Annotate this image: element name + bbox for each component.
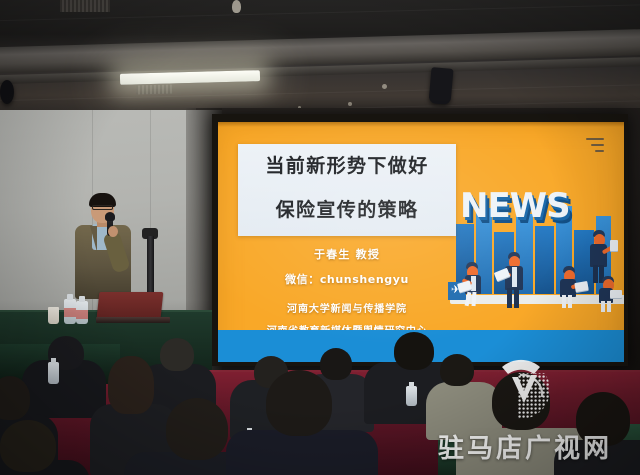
ceiling <box>0 0 640 122</box>
slide-title-card: 当前新形势下做好 保险宣传的策略 <box>238 144 456 236</box>
news-illustration: NEWS <box>446 168 624 330</box>
hamburger-line-2 <box>591 144 604 146</box>
news-word-label: NEWS <box>460 186 570 226</box>
glasses-icon <box>92 205 113 210</box>
ceiling-sprinkler <box>232 0 241 13</box>
presentation-photo-scene: NEWS <box>0 0 640 475</box>
presenter-lapel-left <box>90 226 97 252</box>
watermark: 驻马店广视网 <box>424 359 626 467</box>
bottle-label-2 <box>76 310 88 319</box>
slide-presenter-info: 于春生 教授 微信：chunshengyu 河南大学新闻与传播学院 河南省教育新… <box>234 246 460 337</box>
microphone-head <box>105 212 115 221</box>
slide-top-shading <box>218 122 624 127</box>
hamburger-line-1 <box>586 138 604 140</box>
water-bottle <box>64 299 76 324</box>
ceiling-dot <box>348 102 352 106</box>
ceiling-speaker <box>428 67 453 105</box>
laptop <box>96 292 170 324</box>
illustration-figure-5 <box>598 276 624 312</box>
stage-bottles-group <box>22 298 88 324</box>
ceiling-fixture-left <box>0 80 14 104</box>
presenter-hand <box>108 226 118 237</box>
fluorescent-light-strip <box>120 70 260 85</box>
paper-cup <box>48 307 59 324</box>
slide-title-line-1: 当前新形势下做好 <box>238 144 456 188</box>
presentation-slide: NEWS <box>218 122 624 362</box>
watermark-text: 驻马店广视网 <box>424 428 626 465</box>
hamburger-line-3 <box>595 150 604 152</box>
illustration-figure-1 <box>462 262 492 306</box>
hamburger-icon[interactable] <box>586 138 604 156</box>
presenter-wechat: 微信：chunshengyu <box>234 271 460 287</box>
circular-v-globe-logo <box>490 359 552 421</box>
illustration-figure-3 <box>558 266 588 308</box>
organization-1: 河南大学新闻与传播学院 <box>234 300 460 315</box>
presenter-name: 于春生 教授 <box>234 246 460 262</box>
ceiling-sensor <box>382 84 387 89</box>
audience-water-bottle-1 <box>48 362 59 384</box>
bottle-label <box>64 308 76 317</box>
illustration-figure-2 <box>502 252 532 310</box>
laptop-lid <box>97 292 164 318</box>
water-bottle-2 <box>76 301 88 324</box>
laptop-base <box>96 317 170 323</box>
slide-title-line-2: 保险宣传的策略 <box>238 188 456 232</box>
audience-water-bottle-3 <box>406 386 417 406</box>
